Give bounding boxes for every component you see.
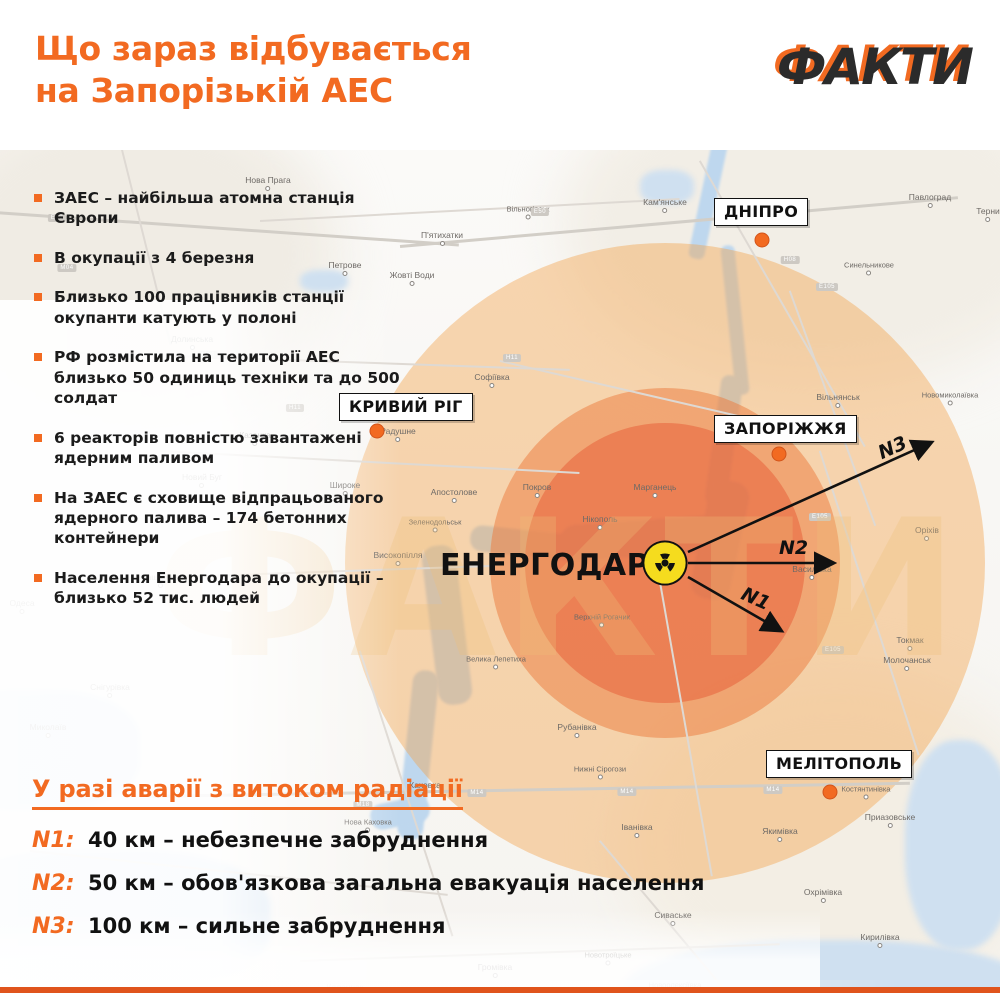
town-dot-icon (432, 528, 437, 533)
town-label-text: Терни (976, 206, 1000, 216)
road-shield: E105 (822, 646, 844, 654)
road-shield: H11 (503, 354, 521, 362)
town-label-text: Кам'янське (643, 197, 687, 207)
town-label: Зеленодольськ (409, 518, 462, 533)
town-label: Велика Лепетиха (466, 655, 526, 670)
nuclear-hazard-icon (641, 539, 689, 587)
town-label: Оріхів (915, 525, 939, 541)
town-label-text: Молочанськ (883, 655, 931, 665)
fact-item: В окупації з 4 березня (30, 248, 400, 268)
fact-text: Близько 100 працівників станції окупанти… (54, 288, 344, 326)
town-label: Охрімівка (804, 887, 842, 903)
town-label: Марганець (634, 482, 677, 498)
legend: У разі аварії з витоком радіації N1:40 к… (32, 775, 792, 939)
fact-text: ЗАЕС – найбільша атомна станція Європи (54, 189, 355, 227)
legend-row-text: 100 км – сильне забруднення (88, 914, 446, 938)
town-label-text: Вільнянськ (816, 392, 859, 402)
city-label-kryvyi-rih[interactable]: КРИВИЙ РІГ (339, 393, 473, 421)
arrow-label-n2: N2 (779, 537, 808, 559)
town-dot-icon (924, 536, 929, 541)
town-label: Апостолове (431, 487, 478, 503)
legend-row: N1:40 км – небезпечне забруднення (32, 828, 792, 853)
town-label: Софіївка (474, 372, 509, 388)
town-dot-icon (887, 823, 892, 828)
town-label-text: Верхній Рогачик (574, 613, 630, 622)
town-dot-icon (662, 208, 667, 213)
town-dot-icon (600, 623, 605, 628)
town-label-text: Синельникове (844, 261, 894, 270)
town-label: П'ятихатки (421, 230, 463, 246)
town-label-text: Велика Лепетиха (466, 655, 526, 664)
town-dot-icon (810, 575, 815, 580)
bullet-square-icon (34, 574, 42, 582)
city-label-dnipro[interactable]: ДНІПРО (714, 198, 808, 226)
bullet-square-icon (34, 194, 42, 202)
town-dot-icon (907, 646, 912, 651)
town-label: Молочанськ (883, 655, 931, 671)
bullet-square-icon (34, 293, 42, 301)
city-dot-kryvyi-rih (370, 424, 385, 439)
town-label: Терни (976, 206, 1000, 222)
town-label-text: Марганець (634, 482, 677, 492)
town-dot-icon (905, 666, 910, 671)
legend-row-text: 50 км – обов'язкова загальна евакуація н… (88, 871, 705, 895)
footer-accent-bar (0, 987, 1000, 993)
town-dot-icon (867, 271, 872, 276)
page-title-line1: Що зараз відбувається (35, 28, 635, 70)
city-label-melitopol[interactable]: МЕЛІТОПОЛЬ (766, 750, 912, 778)
town-label-text: Апостолове (431, 487, 478, 497)
legend-row-text: 40 км – небезпечне забруднення (88, 828, 488, 852)
town-label-text: Новомиколаївка (922, 391, 979, 400)
bullet-square-icon (34, 434, 42, 442)
header: Що зараз відбувається на Запорізькій АЕС… (0, 0, 1000, 150)
town-label: Верхній Рогачик (574, 613, 630, 628)
legend-row-tag: N3: (32, 914, 88, 939)
town-label-text: Рубанівка (557, 722, 596, 732)
bullet-square-icon (34, 353, 42, 361)
town-dot-icon (526, 215, 531, 220)
city-label-text: МЕЛІТОПОЛЬ (766, 750, 912, 778)
town-label-text: Зеленодольськ (409, 518, 462, 527)
city-dot-melitopol (823, 785, 838, 800)
legend-row: N2:50 км – обов'язкова загальна евакуаці… (32, 871, 792, 896)
town-dot-icon (575, 733, 580, 738)
legend-row-tag: N2: (32, 871, 88, 896)
town-label: Синельникове (844, 261, 894, 276)
city-label-text: ЗАПОРІЖЖЯ (714, 415, 857, 443)
energodar-label: ЕНЕРГОДАР (440, 548, 649, 583)
town-label-text: Нижні Сірогози (574, 765, 626, 774)
fact-item: ЗАЕС – найбільша атомна станція Європи (30, 188, 400, 229)
water-body (905, 740, 1000, 950)
town-dot-icon (836, 403, 841, 408)
infographic-root: ФАКТИ Нова ПрагаВільногірськКам'янськеПа… (0, 0, 1000, 1000)
brand-logo[interactable]: ФАКТИ ФАКТИ (742, 38, 972, 100)
town-label-text: Василівка (792, 564, 831, 574)
town-label-text: Павлоград (909, 192, 951, 202)
city-label-text: КРИВИЙ РІГ (339, 393, 473, 421)
town-label-text: Нікополь (582, 514, 617, 524)
legend-row: N3:100 км – сильне забруднення (32, 914, 792, 939)
fact-item: На ЗАЕС є сховище відпрацьованого ядерно… (30, 488, 400, 549)
road-shield: H08 (781, 256, 800, 264)
town-label-text: Покров (523, 482, 552, 492)
town-dot-icon (452, 498, 457, 503)
city-dot-zaporizhzhia (772, 447, 787, 462)
town-label-text: Оріхів (915, 525, 939, 535)
town-dot-icon (653, 493, 658, 498)
fact-item: Населення Енергодара до окупації – близь… (30, 568, 400, 609)
bullet-square-icon (34, 254, 42, 262)
city-label-zaporizhzhia[interactable]: ЗАПОРІЖЖЯ (714, 415, 857, 443)
town-label: Кам'янське (643, 197, 687, 213)
town-dot-icon (489, 383, 494, 388)
town-dot-icon (877, 943, 882, 948)
town-dot-icon (440, 241, 445, 246)
town-label: Василівка (792, 564, 831, 580)
town-dot-icon (597, 525, 602, 530)
legend-row-tag: N1: (32, 828, 88, 853)
town-label-text: Токмак (896, 635, 923, 645)
fact-text: Населення Енергодара до окупації – близь… (54, 569, 384, 607)
fact-text: 6 реакторів повністю завантажені ядерним… (54, 429, 362, 467)
town-label-text: Софіївка (474, 372, 509, 382)
road-shield: E105 (816, 283, 838, 291)
town-label: Рубанівка (557, 722, 596, 738)
fact-text: В окупації з 4 березня (54, 249, 254, 267)
legend-rows: N1:40 км – небезпечне забрудненняN2:50 к… (32, 828, 792, 939)
town-label-text: Охрімівка (804, 887, 842, 897)
town-dot-icon (410, 281, 415, 286)
town-dot-icon (928, 203, 933, 208)
town-dot-icon (820, 898, 825, 903)
town-label-text: Приазовське (865, 812, 915, 822)
town-dot-icon (535, 493, 540, 498)
road-shield: E105 (809, 513, 831, 521)
fact-item: 6 реакторів повністю завантажені ядерним… (30, 428, 400, 469)
legend-title: У разі аварії з витоком радіації (32, 775, 463, 810)
town-label: Новомиколаївка (922, 391, 979, 406)
town-dot-icon (986, 217, 991, 222)
bullet-square-icon (34, 494, 42, 502)
town-label: Кирилівка (860, 932, 899, 948)
town-label-text: Костянтинівка (842, 785, 891, 794)
town-label-text: Нова Прага (245, 175, 291, 185)
town-dot-icon (493, 665, 498, 670)
city-label-text: ДНІПРО (714, 198, 808, 226)
town-label: Павлоград (909, 192, 951, 208)
page-title-line2: на Запорізькій АЕС (35, 70, 635, 112)
town-dot-icon (947, 401, 952, 406)
town-label-text: П'ятихатки (421, 230, 463, 240)
town-dot-icon (864, 795, 869, 800)
page-title: Що зараз відбувається на Запорізькій АЕС (35, 28, 635, 111)
town-label: Костянтинівка (842, 785, 891, 800)
fact-text: На ЗАЕС є сховище відпрацьованого ядерно… (54, 489, 384, 548)
town-label: Приазовське (865, 812, 915, 828)
brand-logo-text: ФАКТИ (777, 38, 972, 96)
road-shield: E50 (531, 208, 549, 216)
city-dot-dnipro (755, 233, 770, 248)
town-label: Вільнянськ (816, 392, 859, 408)
town-label: Нікополь (582, 514, 617, 530)
fact-item: Близько 100 працівників станції окупанти… (30, 287, 400, 328)
town-label-text: Кирилівка (860, 932, 899, 942)
town-label: Покров (523, 482, 552, 498)
town-label: Токмак (896, 635, 923, 651)
